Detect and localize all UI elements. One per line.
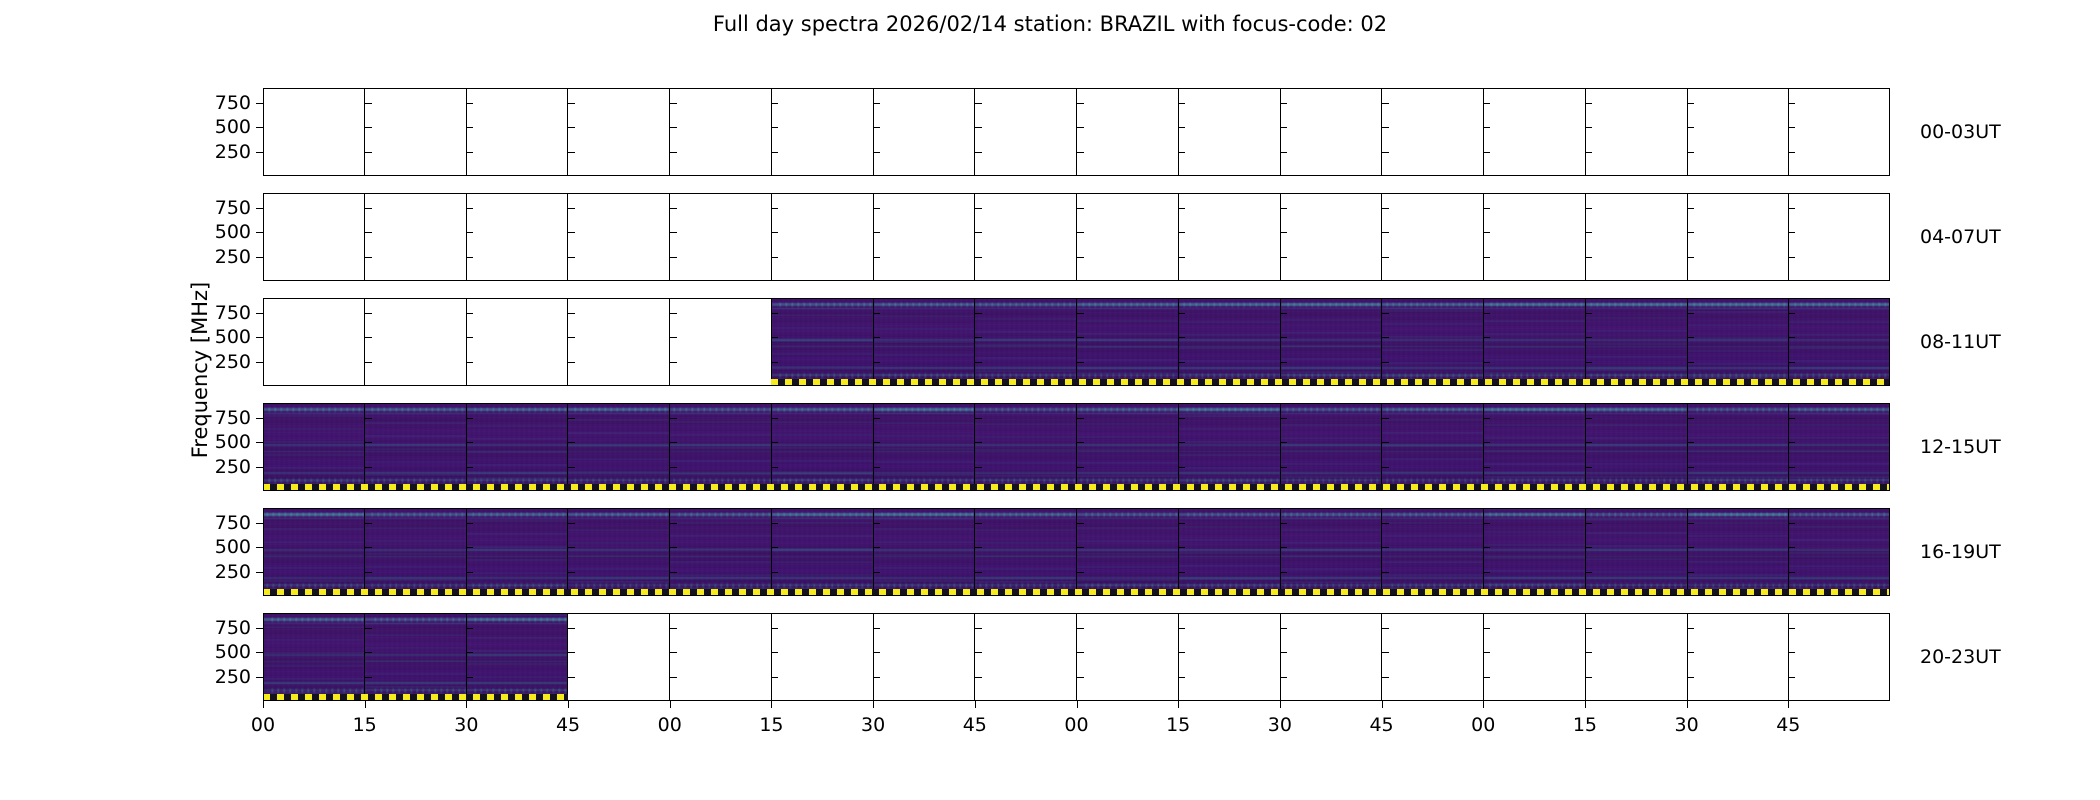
subpanel-cell <box>1076 613 1178 701</box>
subpanel-cell <box>567 613 669 701</box>
spectrogram-row-04-07ut: 75050025004-07UT <box>263 193 1890 281</box>
speckle-overlay <box>467 508 568 596</box>
y-tick-inner <box>1788 232 1795 233</box>
subpanel-cell <box>1483 508 1585 596</box>
y-tick-inner <box>1382 652 1389 653</box>
y-tick-inner <box>1585 442 1592 443</box>
x-tick <box>1280 701 1281 708</box>
y-tick-inner <box>365 152 372 153</box>
speckle-overlay <box>1789 403 1890 491</box>
y-tick-inner <box>1687 127 1694 128</box>
y-tick-inner <box>771 677 778 678</box>
row-time-label: 00-03UT <box>1920 121 2001 143</box>
spectrogram-figure: Full day spectra 2026/02/14 station: BRA… <box>0 0 2100 800</box>
y-tick-inner <box>466 677 473 678</box>
y-tick-inner <box>365 467 372 468</box>
y-tick-inner <box>1178 103 1185 104</box>
row-time-label: 08-11UT <box>1920 331 2001 353</box>
speckle-overlay <box>1281 403 1382 491</box>
y-tick-inner <box>365 337 372 338</box>
subpanel-cell <box>1076 403 1178 491</box>
y-tick-inner <box>1585 572 1592 573</box>
y-tick-inner <box>1077 208 1084 209</box>
subpanel-cell <box>1788 508 1890 596</box>
y-tick-inner <box>771 523 778 524</box>
y-tick-inner <box>568 257 575 258</box>
subpanel-container <box>263 613 1890 701</box>
subpanel-cell <box>1585 613 1687 701</box>
y-tick-inner <box>1483 152 1490 153</box>
y-tick-inner <box>365 628 372 629</box>
y-tick-inner <box>568 362 575 363</box>
y-tick-inner <box>1585 152 1592 153</box>
y-tick-inner <box>466 127 473 128</box>
y-tick-inner <box>1280 257 1287 258</box>
speckle-overlay <box>1382 298 1483 386</box>
y-tick-inner <box>466 232 473 233</box>
y-tick-inner <box>670 257 677 258</box>
y-tick-inner <box>568 572 575 573</box>
x-tick <box>1483 701 1484 708</box>
y-tick-inner <box>466 652 473 653</box>
y-tick <box>256 652 263 653</box>
y-tick-inner <box>1280 232 1287 233</box>
y-tick-inner <box>365 677 372 678</box>
y-tick-inner <box>975 677 982 678</box>
y-tick-inner <box>1585 208 1592 209</box>
subpanel-cell <box>1280 193 1382 281</box>
y-tick-inner <box>670 232 677 233</box>
y-tick-inner <box>568 677 575 678</box>
subpanel-cell <box>1178 88 1280 176</box>
y-tick-inner <box>1585 677 1592 678</box>
spectrogram-row-12-15ut: 75050025012-15UT <box>263 403 1890 491</box>
y-tick-inner <box>1585 362 1592 363</box>
y-tick-inner <box>1585 103 1592 104</box>
subpanel-cell <box>466 508 568 596</box>
y-tick-inner <box>1788 652 1795 653</box>
y-tick-inner <box>1178 337 1185 338</box>
y-tick-inner <box>873 152 880 153</box>
y-tick-inner <box>1788 523 1795 524</box>
y-tick-inner <box>1483 572 1490 573</box>
y-tick-inner <box>1382 442 1389 443</box>
row-time-label: 16-19UT <box>1920 541 2001 563</box>
y-tick-inner <box>1585 127 1592 128</box>
y-tick-inner <box>1077 442 1084 443</box>
y-tick-inner <box>365 418 372 419</box>
spectrogram-row-16-19ut: 75050025016-19UT <box>263 508 1890 596</box>
y-tick-inner <box>1178 418 1185 419</box>
subpanel-container <box>263 193 1890 281</box>
x-tick-label: 15 <box>759 714 783 736</box>
speckle-overlay <box>467 613 568 701</box>
subpanel-cell <box>1076 88 1178 176</box>
subpanel-cell <box>1687 298 1789 386</box>
subpanel-cell <box>974 193 1076 281</box>
speckle-overlay <box>263 508 364 596</box>
y-tick-inner <box>365 523 372 524</box>
speckle-overlay <box>1179 508 1280 596</box>
y-tick-inner <box>466 418 473 419</box>
subpanel-cell <box>1076 298 1178 386</box>
y-tick-inner <box>1382 127 1389 128</box>
y-tick <box>256 152 263 153</box>
y-tick-inner <box>670 523 677 524</box>
y-tick-inner <box>771 652 778 653</box>
y-tick-inner <box>975 257 982 258</box>
y-tick-inner <box>975 418 982 419</box>
subpanel-cell <box>1381 88 1483 176</box>
y-tick-inner <box>1483 523 1490 524</box>
y-tick-inner <box>1483 652 1490 653</box>
speckle-overlay <box>1077 508 1178 596</box>
y-tick-inner <box>670 652 677 653</box>
subpanel-cell <box>263 613 364 701</box>
subpanel-cell <box>567 298 669 386</box>
y-tick-inner <box>1585 628 1592 629</box>
y-tick-inner <box>1280 628 1287 629</box>
y-tick-inner <box>466 467 473 468</box>
subpanel-cell <box>567 88 669 176</box>
y-tick-inner <box>771 467 778 468</box>
y-tick-inner <box>873 628 880 629</box>
y-tick-inner <box>1077 628 1084 629</box>
y-tick-inner <box>873 313 880 314</box>
y-tick-inner <box>771 337 778 338</box>
speckle-overlay <box>1382 403 1483 491</box>
y-tick-inner <box>975 442 982 443</box>
y-tick-inner <box>466 442 473 443</box>
y-tick-inner <box>1788 467 1795 468</box>
subpanel-cell <box>669 298 771 386</box>
y-tick-inner <box>1178 313 1185 314</box>
y-tick-inner <box>1280 337 1287 338</box>
y-tick-inner <box>975 337 982 338</box>
y-tick-inner <box>873 677 880 678</box>
subpanel-cell <box>1483 88 1585 176</box>
subpanel-cell <box>1788 298 1890 386</box>
y-tick-inner <box>466 313 473 314</box>
subpanel-cell <box>263 298 364 386</box>
y-tick-inner <box>1077 232 1084 233</box>
speckle-overlay <box>1484 508 1585 596</box>
y-tick-inner <box>1178 628 1185 629</box>
subpanel-cell <box>669 403 771 491</box>
subpanel-container <box>263 88 1890 176</box>
y-tick-inner <box>1178 523 1185 524</box>
y-tick-inner <box>1585 313 1592 314</box>
y-tick-inner <box>873 467 880 468</box>
subpanel-container <box>263 508 1890 596</box>
x-tick <box>263 701 264 708</box>
subpanel-cell <box>1280 613 1382 701</box>
y-tick-inner <box>1788 418 1795 419</box>
subpanel-cell <box>466 298 568 386</box>
x-tick-label: 30 <box>861 714 885 736</box>
y-tick-inner <box>1382 232 1389 233</box>
y-tick <box>256 628 263 629</box>
speckle-overlay <box>975 508 1076 596</box>
x-tick-label: 30 <box>1675 714 1699 736</box>
y-tick-inner <box>568 418 575 419</box>
x-tick <box>1687 701 1688 708</box>
speckle-overlay <box>1281 508 1382 596</box>
subpanel-cell <box>466 193 568 281</box>
x-tick <box>873 701 874 708</box>
y-tick-inner <box>1483 362 1490 363</box>
subpanel-container <box>263 298 1890 386</box>
y-tick-inner <box>1585 232 1592 233</box>
y-tick-inner <box>1077 103 1084 104</box>
subpanel-cell <box>364 88 466 176</box>
y-tick-inner <box>975 127 982 128</box>
y-tick-inner <box>975 232 982 233</box>
subpanel-cell <box>1076 508 1178 596</box>
y-tick-inner <box>1483 677 1490 678</box>
subpanel-cell <box>263 88 364 176</box>
x-tick-label: 45 <box>1776 714 1800 736</box>
y-tick-inner <box>1585 523 1592 524</box>
y-tick-inner <box>1483 418 1490 419</box>
y-tick-inner <box>1483 257 1490 258</box>
y-tick-inner <box>568 313 575 314</box>
y-tick-inner <box>670 127 677 128</box>
x-tick-label: 45 <box>1369 714 1393 736</box>
y-tick-inner <box>1280 103 1287 104</box>
y-tick-inner <box>365 127 372 128</box>
speckle-overlay <box>1484 403 1585 491</box>
subpanel-cell <box>364 298 466 386</box>
speckle-overlay <box>1586 298 1687 386</box>
y-tick-inner <box>1483 547 1490 548</box>
y-tick-inner <box>466 152 473 153</box>
subpanel-cell <box>974 508 1076 596</box>
y-tick-inner <box>1687 442 1694 443</box>
y-tick-inner <box>1382 547 1389 548</box>
x-tick-label: 45 <box>963 714 987 736</box>
subpanel-cell <box>1687 613 1789 701</box>
subpanel-cell <box>771 298 873 386</box>
subpanel-cell <box>1381 193 1483 281</box>
subpanel-cell <box>567 193 669 281</box>
y-tick-inner <box>365 313 372 314</box>
y-tick-inner <box>1483 208 1490 209</box>
y-tick-inner <box>1687 628 1694 629</box>
subpanel-cell <box>364 613 466 701</box>
y-tick-inner <box>975 152 982 153</box>
subpanel-cell <box>1280 298 1382 386</box>
y-tick-inner <box>568 127 575 128</box>
y-tick-inner <box>670 103 677 104</box>
y-tick-inner <box>365 547 372 548</box>
y-tick-inner <box>1483 313 1490 314</box>
y-tick-inner <box>771 232 778 233</box>
x-tick-label: 00 <box>1064 714 1088 736</box>
y-tick-inner <box>670 677 677 678</box>
y-tick-inner <box>1280 208 1287 209</box>
subpanel-cell <box>1585 298 1687 386</box>
x-tick <box>365 701 366 708</box>
y-tick <box>256 467 263 468</box>
y-tick-inner <box>1382 208 1389 209</box>
subpanel-cell <box>364 508 466 596</box>
y-tick-inner <box>1077 337 1084 338</box>
y-tick-inner <box>1178 362 1185 363</box>
y-tick-inner <box>873 337 880 338</box>
y-tick-inner <box>1788 677 1795 678</box>
speckle-overlay <box>772 403 873 491</box>
y-tick-inner <box>1077 152 1084 153</box>
y-tick <box>256 257 263 258</box>
subpanel-cell <box>466 613 568 701</box>
y-tick-inner <box>873 232 880 233</box>
subpanel-cell <box>466 403 568 491</box>
y-tick-inner <box>1077 572 1084 573</box>
y-tick-inner <box>1178 127 1185 128</box>
y-tick-inner <box>771 127 778 128</box>
row-time-label: 12-15UT <box>1920 436 2001 458</box>
y-tick-inner <box>771 257 778 258</box>
subpanel-container <box>263 403 1890 491</box>
speckle-overlay <box>1586 508 1687 596</box>
subpanel-cell <box>873 88 975 176</box>
speckle-overlay <box>1179 403 1280 491</box>
y-tick-inner <box>1687 467 1694 468</box>
y-tick-inner <box>568 467 575 468</box>
y-tick-inner <box>1178 257 1185 258</box>
y-tick <box>256 523 263 524</box>
y-tick-inner <box>466 628 473 629</box>
speckle-overlay <box>1382 508 1483 596</box>
y-tick-inner <box>1077 547 1084 548</box>
y-tick-inner <box>1788 337 1795 338</box>
y-tick-inner <box>1687 103 1694 104</box>
y-tick-inner <box>1483 628 1490 629</box>
speckle-overlay <box>365 613 466 701</box>
y-tick-inner <box>1077 523 1084 524</box>
y-tick-inner <box>975 547 982 548</box>
y-tick-inner <box>975 103 982 104</box>
x-tick <box>1178 701 1179 708</box>
y-tick-inner <box>1687 362 1694 363</box>
subpanel-cell <box>263 403 364 491</box>
x-tick <box>1077 701 1078 708</box>
y-tick-inner <box>975 313 982 314</box>
y-tick-inner <box>1280 152 1287 153</box>
y-tick-inner <box>1483 467 1490 468</box>
subpanel-cell <box>974 613 1076 701</box>
y-tick-inner <box>466 337 473 338</box>
y-tick-inner <box>1788 257 1795 258</box>
subpanel-cell <box>1687 193 1789 281</box>
y-tick <box>256 677 263 678</box>
speckle-overlay <box>1484 298 1585 386</box>
subpanel-cell <box>567 403 669 491</box>
x-tick <box>771 701 772 708</box>
y-tick-inner <box>873 547 880 548</box>
x-tick <box>670 701 671 708</box>
y-tick-inner <box>771 442 778 443</box>
y-tick-inner <box>975 362 982 363</box>
y-tick <box>256 103 263 104</box>
y-tick-inner <box>1280 523 1287 524</box>
y-tick-inner <box>365 232 372 233</box>
y-tick-inner <box>1483 337 1490 338</box>
x-tick <box>1585 701 1586 708</box>
y-tick <box>256 418 263 419</box>
subpanel-cell <box>974 88 1076 176</box>
y-tick-inner <box>365 208 372 209</box>
speckle-overlay <box>263 403 364 491</box>
y-tick-inner <box>1788 208 1795 209</box>
y-tick-inner <box>1178 232 1185 233</box>
y-tick-inner <box>1280 467 1287 468</box>
x-tick <box>568 701 569 708</box>
y-tick <box>256 337 263 338</box>
subpanel-cell <box>1483 613 1585 701</box>
y-tick-inner <box>365 442 372 443</box>
y-tick-inner <box>1178 442 1185 443</box>
x-tick-label: 30 <box>454 714 478 736</box>
x-tick <box>975 701 976 708</box>
speckle-overlay <box>874 403 975 491</box>
y-tick-inner <box>466 547 473 548</box>
y-tick-inner <box>1178 677 1185 678</box>
spectrogram-row-00-03ut: 75050025000-03UT <box>263 88 1890 176</box>
y-tick-inner <box>1788 572 1795 573</box>
y-tick-inner <box>1280 442 1287 443</box>
y-tick-inner <box>771 152 778 153</box>
y-tick-inner <box>670 572 677 573</box>
subpanel-cell <box>1483 298 1585 386</box>
y-tick <box>256 208 263 209</box>
spectrogram-row-08-11ut: 75050025008-11UT <box>263 298 1890 386</box>
burst-marker-line <box>263 484 1890 491</box>
subpanel-cell <box>669 88 771 176</box>
y-tick-inner <box>873 572 880 573</box>
y-tick-inner <box>1382 103 1389 104</box>
x-tick <box>1382 701 1383 708</box>
y-tick-inner <box>1280 677 1287 678</box>
y-tick-inner <box>873 127 880 128</box>
speckle-overlay <box>263 613 364 701</box>
y-tick-inner <box>1382 418 1389 419</box>
subpanel-cell <box>1687 88 1789 176</box>
y-tick <box>256 547 263 548</box>
speckle-overlay <box>1789 298 1890 386</box>
y-tick-inner <box>670 547 677 548</box>
subpanel-cell <box>263 193 364 281</box>
y-tick-inner <box>975 652 982 653</box>
y-tick-inner <box>466 523 473 524</box>
y-tick-inner <box>771 362 778 363</box>
y-tick-inner <box>1788 547 1795 548</box>
speckle-overlay <box>874 508 975 596</box>
subpanel-cell <box>771 613 873 701</box>
y-tick-inner <box>1382 362 1389 363</box>
y-tick-inner <box>771 313 778 314</box>
y-tick-inner <box>771 418 778 419</box>
y-tick-inner <box>1585 337 1592 338</box>
y-tick-inner <box>1788 442 1795 443</box>
subpanel-cell <box>771 508 873 596</box>
subpanel-cell <box>1280 88 1382 176</box>
y-tick-inner <box>1687 677 1694 678</box>
y-tick-inner <box>1382 677 1389 678</box>
y-tick <box>256 127 263 128</box>
subpanel-cell <box>1280 403 1382 491</box>
